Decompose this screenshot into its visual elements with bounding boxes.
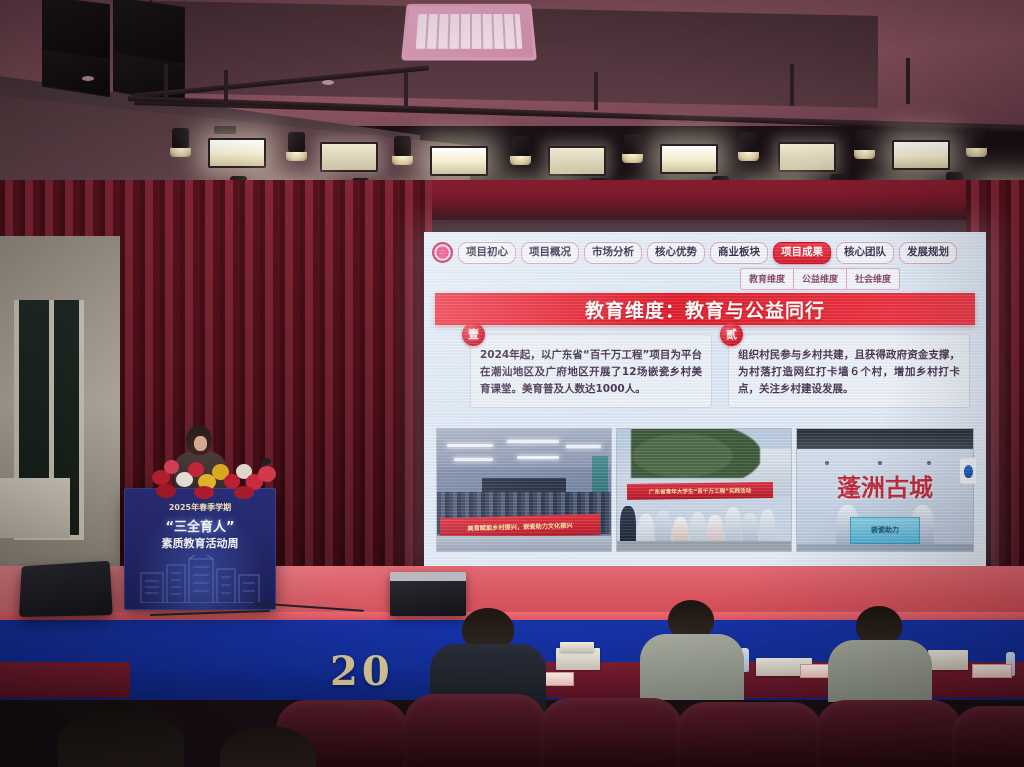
auditorium-seat xyxy=(816,700,962,767)
slide-photo-indoor-group: 美育赋能乡村振兴，嵌瓷助力文化振兴 xyxy=(436,428,612,552)
photo3-banner-text: 嵌瓷助力 xyxy=(851,518,919,543)
flower xyxy=(258,466,276,482)
truss-dropper xyxy=(404,72,408,106)
stage-monitor-speaker xyxy=(390,572,466,616)
photo1-floor xyxy=(437,536,611,551)
light-clamp xyxy=(436,132,458,140)
photo3-mural-text: 蓬洲古城 xyxy=(804,469,966,506)
lotus-emblem-icon xyxy=(432,242,453,263)
air-conditioner-unit xyxy=(401,4,537,61)
slide-title-banner: 教育维度：教育与公益同行 xyxy=(435,293,975,325)
flower xyxy=(234,486,254,499)
auditorium-seat xyxy=(676,702,822,767)
photo3-roof xyxy=(797,429,973,449)
slide-nav-bar: 项目初心 项目概况 市场分析 核心优势 商业板块 项目成果 核心团队 发展规划 xyxy=(424,242,986,264)
par-can-light xyxy=(624,134,641,156)
stage-front-text: 20 xyxy=(330,648,394,695)
truss-dropper xyxy=(164,64,168,100)
photo2-tree xyxy=(631,428,760,478)
truss-dropper xyxy=(224,70,228,104)
conference-hall-photo: 项目初心 项目概况 市场分析 核心优势 商业板块 项目成果 核心团队 发展规划 … xyxy=(0,0,1024,767)
card-text-1: 2024年起，以广东省“百千万工程”项目为平台在潮汕地区及广府地区开展了12场嵌… xyxy=(480,347,702,398)
auditorium-seat xyxy=(404,694,546,767)
auditorium-seat xyxy=(952,706,1024,767)
flood-light xyxy=(548,146,606,176)
slide-content-cards: 壹 2024年起，以广东省“百千万工程”项目为平台在潮汕地区及广府地区开展了12… xyxy=(470,334,970,408)
nav-tab-development-plan[interactable]: 发展规划 xyxy=(899,242,957,264)
photo1-light-tube xyxy=(566,445,601,448)
slide-subnav-bar: 教育维度 公益维度 社会维度 xyxy=(740,268,900,290)
photo3-wall-dot xyxy=(825,461,829,465)
flower xyxy=(194,486,214,499)
slide-photo-outdoor-children: 广东省青年大学生“百千万工程”实践活动 xyxy=(616,428,792,552)
speaking-podium: 2025年春季学期 “三全育人” 素质教育活动周 xyxy=(124,488,276,610)
light-clamp xyxy=(214,126,236,134)
photo1-light-tube xyxy=(454,458,492,461)
nav-tab-core-advantage[interactable]: 核心优势 xyxy=(647,242,705,264)
led-presentation-screen: 项目初心 项目概况 市场分析 核心优势 商业板块 项目成果 核心团队 发展规划 … xyxy=(424,232,986,566)
photo1-light-tube xyxy=(517,456,559,459)
slide-photo-strip: 美育赋能乡村振兴，嵌瓷助力文化振兴 广东省青年大学生“百千万工程”实践活动 xyxy=(436,428,974,552)
flood-light xyxy=(430,146,488,176)
par-can-light xyxy=(288,132,305,154)
podium-line-1: 2025年春季学期 xyxy=(125,502,275,513)
podium-line-3: 素质教育活动周 xyxy=(125,535,275,551)
podium-line-2: “三全育人” xyxy=(125,516,275,535)
photo1-light-tube xyxy=(507,440,559,443)
truss-dropper xyxy=(594,72,598,110)
floor-wedge-speaker xyxy=(19,561,113,617)
flood-light xyxy=(892,140,950,170)
card-number-badge-1: 壹 xyxy=(462,323,485,346)
content-card-1: 壹 2024年起，以广东省“百千万工程”项目为平台在潮汕地区及广府地区开展了12… xyxy=(470,334,712,408)
subnav-education-dimension[interactable]: 教育维度 xyxy=(741,269,794,289)
auditorium-seat xyxy=(540,698,682,767)
foreground-audience-head xyxy=(58,706,184,767)
photo1-light-tube xyxy=(447,444,492,447)
par-can-light xyxy=(856,130,873,152)
truss-dropper xyxy=(906,58,910,104)
photo3-blue-banner: 嵌瓷助力 xyxy=(850,517,920,544)
audience-shoulders xyxy=(828,640,932,702)
par-can-light xyxy=(394,136,411,158)
photo1-banner-text: 美育赋能乡村振兴，嵌瓷助力文化振兴 xyxy=(440,513,601,538)
badge-glyph-icon xyxy=(964,465,973,478)
podium-skyline-graphic xyxy=(135,555,265,603)
par-can-light xyxy=(740,132,757,154)
subnav-social-dimension[interactable]: 社会维度 xyxy=(847,269,899,289)
par-can-light xyxy=(172,128,189,150)
document-stack xyxy=(560,642,594,652)
photo1-ceiling xyxy=(437,429,611,468)
slide-title-text: 教育维度：教育与公益同行 xyxy=(585,296,825,323)
light-clamp xyxy=(676,130,698,138)
slide-photo-ancient-town-wall: 蓬洲古城 嵌瓷助力 xyxy=(796,428,974,552)
photo1-red-banner: 美育赋能乡村振兴，嵌瓷助力文化振兴 xyxy=(440,513,601,538)
nav-tab-project-origin[interactable]: 项目初心 xyxy=(458,242,516,264)
audience-shoulders xyxy=(640,634,744,700)
nav-tab-business-sector[interactable]: 商业板块 xyxy=(710,242,768,264)
screen-corner-badge xyxy=(960,458,976,484)
document-stack xyxy=(928,650,968,670)
nav-tab-core-team[interactable]: 核心团队 xyxy=(836,242,894,264)
nav-tab-market-analysis[interactable]: 市场分析 xyxy=(584,242,642,264)
name-card xyxy=(972,664,1012,678)
podium-flower-arrangement xyxy=(150,452,280,500)
truss-dropper xyxy=(790,64,794,106)
nav-tab-project-overview[interactable]: 项目概况 xyxy=(521,242,579,264)
nav-tab-project-results[interactable]: 项目成果 xyxy=(773,242,831,264)
card-number-badge-2: 贰 xyxy=(720,323,743,346)
photo2-ground xyxy=(617,541,791,551)
subnav-charity-dimension[interactable]: 公益维度 xyxy=(794,269,847,289)
par-can-light xyxy=(968,128,985,150)
wall-panel xyxy=(0,478,70,538)
content-card-2: 贰 组织村民参与乡村共建，且获得政府资金支撑，为村落打造网红打卡墙６个村，增加乡… xyxy=(728,334,970,408)
flower xyxy=(156,484,176,498)
ac-vent-grille xyxy=(416,14,523,49)
presenter-face xyxy=(194,436,207,451)
flower xyxy=(164,460,179,474)
card-text-2: 组织村民参与乡村共建，且获得政府资金支撑，为村落打造网红打卡墙６个村，增加乡村打… xyxy=(738,347,960,398)
smoke-detector xyxy=(82,76,94,81)
photo3-ledge xyxy=(797,544,973,551)
audience-table xyxy=(0,662,130,698)
smoke-detector xyxy=(322,80,334,85)
par-can-light xyxy=(512,136,529,158)
photo3-wall-dot xyxy=(878,461,882,465)
flood-light xyxy=(208,138,266,168)
flood-light xyxy=(320,142,378,172)
photo3-wall-dot xyxy=(927,461,931,465)
flood-light xyxy=(778,142,836,172)
flood-light xyxy=(660,144,718,174)
